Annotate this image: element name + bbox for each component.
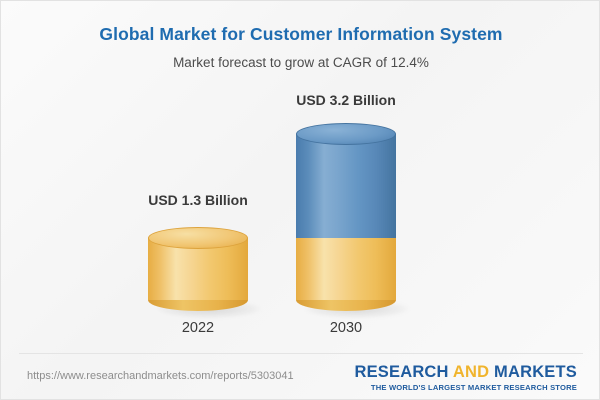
research-and-markets-logo: RESEARCH AND MARKETS THE WORLD'S LARGEST… — [354, 364, 577, 392]
footer-divider — [19, 353, 583, 354]
category-label-2030: 2030 — [266, 320, 426, 336]
logo-word-and: AND — [453, 363, 489, 381]
cylinder-top-ellipse — [148, 227, 248, 249]
category-label-2022: 2022 — [118, 320, 278, 336]
bar-group-2022: USD 1.3 Billion 2022 — [118, 81, 278, 346]
logo-tagline: THE WORLD'S LARGEST MARKET RESEARCH STOR… — [354, 383, 577, 392]
logo-word-research: RESEARCH — [354, 363, 448, 381]
logo-word-markets: MARKETS — [494, 363, 577, 381]
chart-subtitle: Market forecast to grow at CAGR of 12.4% — [1, 55, 600, 70]
bar-segment-growth-2030 — [296, 123, 396, 238]
cylinder-body — [296, 134, 396, 238]
bar-group-2030: USD 3.2 Billion 2030 — [266, 81, 426, 346]
logo-wordmark: RESEARCH AND MARKETS — [354, 364, 577, 381]
value-label-2030: USD 3.2 Billion — [266, 92, 426, 108]
chart-plot-area: USD 1.3 Billion 2022 USD 3.2 Billion — [1, 81, 600, 346]
source-url[interactable]: https://www.researchandmarkets.com/repor… — [27, 370, 294, 382]
infographic-card: Global Market for Customer Information S… — [0, 0, 600, 400]
cylinder-bar-2030 — [296, 123, 396, 311]
bar-segment-base-2022 — [148, 227, 248, 311]
value-label-2022: USD 1.3 Billion — [118, 192, 278, 208]
page-title: Global Market for Customer Information S… — [1, 24, 600, 45]
cylinder-bar-2022 — [148, 227, 248, 311]
bar-segment-base-2030 — [296, 227, 396, 311]
cylinder-top-ellipse — [296, 123, 396, 145]
